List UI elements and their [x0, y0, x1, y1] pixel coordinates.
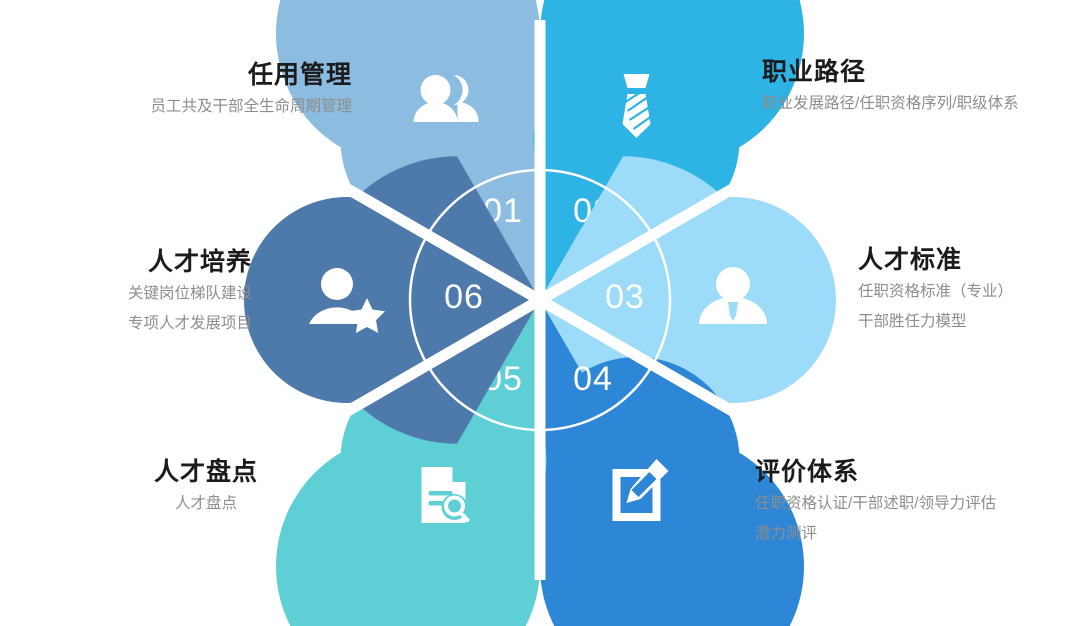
petal-03-number: 03: [605, 278, 645, 316]
label-06-subtitle-1: 关键岗位梯队建设: [20, 279, 252, 309]
label-02-subtitle-1: 职业发展路径/任职资格序列/职级体系: [762, 89, 1077, 119]
label-03-subtitle-1: 任职资格标准（专业）: [858, 277, 1078, 307]
label-04-subtitle-2: 潜力测评: [755, 519, 1077, 549]
label-04-subtitle-1: 任职资格认证/干部述职/领导力评估: [755, 489, 1077, 519]
label-06-title: 人才培养: [20, 245, 252, 279]
label-05-subtitle-1: 人才盘点: [80, 489, 332, 519]
label-02-title: 职业路径: [762, 55, 1077, 89]
label-02[interactable]: 职业路径 职业发展路径/任职资格序列/职级体系: [762, 55, 1077, 119]
label-04-title: 评价体系: [755, 455, 1077, 489]
petal-06-number: 06: [444, 278, 484, 316]
label-05-title: 人才盘点: [80, 455, 332, 489]
label-03[interactable]: 人才标准 任职资格标准（专业） 干部胜任力模型: [858, 243, 1078, 337]
label-04[interactable]: 评价体系 任职资格认证/干部述职/领导力评估 潜力测评: [755, 455, 1077, 549]
petal-04-number: 04: [573, 360, 613, 398]
label-05[interactable]: 人才盘点 人才盘点: [80, 455, 332, 519]
label-03-title: 人才标准: [858, 243, 1078, 277]
label-06-subtitle-2: 专项人才发展项目: [20, 309, 252, 339]
label-01[interactable]: 任用管理 员工共及干部全生命周期管理: [20, 58, 352, 122]
label-06[interactable]: 人才培养 关键岗位梯队建设 专项人才发展项目: [20, 245, 252, 339]
label-01-title: 任用管理: [20, 58, 352, 92]
label-01-subtitle-1: 员工共及干部全生命周期管理: [20, 92, 352, 122]
label-03-subtitle-2: 干部胜任力模型: [858, 307, 1078, 337]
diagram-canvas: 01 02: [0, 0, 1081, 626]
